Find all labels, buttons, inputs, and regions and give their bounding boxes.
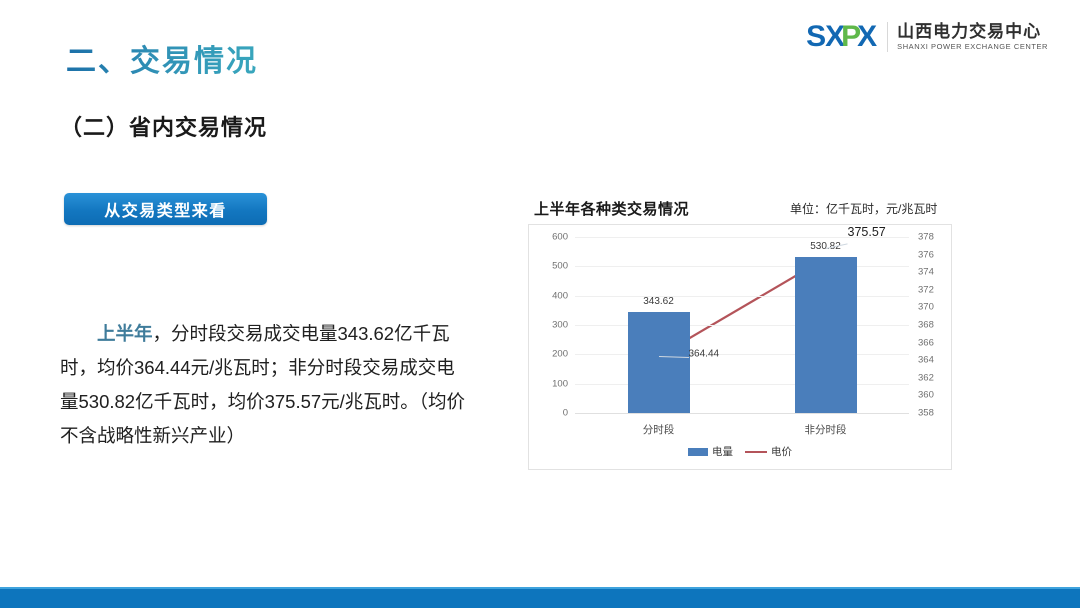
chart-gridline	[575, 354, 909, 355]
chart-gridline	[575, 413, 909, 414]
badge-transaction-type: 从交易类型来看	[64, 193, 267, 225]
y-axis-tick-right: 360	[918, 390, 934, 401]
page-title: 二、交易情况	[66, 36, 258, 80]
legend-label-energy: 电量	[712, 444, 733, 459]
logo-letter-s: S	[806, 22, 825, 52]
logo-mark-sxpx: SXPX	[806, 22, 876, 52]
y-axis-tick-left: 500	[552, 261, 568, 272]
logo-wordmark: 山西电力交易中心 SHANXI POWER EXCHANGE CENTER	[887, 22, 1048, 51]
footer-bar	[0, 587, 1080, 608]
legend-label-price: 电价	[771, 444, 792, 459]
brand-logo: SXPX 山西电力交易中心 SHANXI POWER EXCHANGE CENT…	[806, 22, 1048, 52]
y-axis-tick-right: 366	[918, 337, 934, 348]
legend-item-price: 电价	[745, 444, 792, 459]
y-axis-tick-right: 364	[918, 355, 934, 366]
y-axis-tick-right: 362	[918, 372, 934, 383]
y-axis-tick-right: 376	[918, 249, 934, 260]
line-value-label: 364.44	[689, 349, 720, 360]
y-axis-tick-left: 100	[552, 378, 568, 389]
y-axis-tick-right: 368	[918, 320, 934, 331]
chart-gridline	[575, 296, 909, 297]
y-axis-tick-left: 200	[552, 349, 568, 360]
x-axis-tick: 非分时段	[805, 422, 847, 437]
chart-gridline	[575, 266, 909, 267]
y-axis-tick-left: 600	[552, 232, 568, 243]
logo-letter-p: P	[841, 22, 860, 52]
bar-value-label: 343.62	[643, 296, 674, 307]
x-axis-tick: 分时段	[643, 422, 675, 437]
body-paragraph: 上半年，分时段交易成交电量343.62亿千瓦时，均价364.44元/兆瓦时；非分…	[60, 317, 472, 454]
chart-combo-energy-price: 6005004003002001000378376374372370368366…	[528, 224, 952, 470]
chart-plot-area: 6005004003002001000378376374372370368366…	[575, 237, 909, 413]
y-axis-tick-right: 358	[918, 408, 934, 419]
chart-bar	[628, 312, 690, 413]
sub-heading: （二）省内交易情况	[60, 110, 267, 142]
y-axis-tick-left: 400	[552, 290, 568, 301]
logo-name-cn: 山西电力交易中心	[897, 22, 1048, 42]
slide-canvas: 二、交易情况 SXPX 山西电力交易中心 SHANXI POWER EXCHAN…	[0, 0, 1080, 608]
y-axis-tick-left: 0	[563, 408, 568, 419]
y-axis-tick-right: 370	[918, 302, 934, 313]
y-axis-tick-right: 378	[918, 232, 934, 243]
paragraph-highlight: 上半年	[97, 323, 153, 344]
chart-title: 上半年各种类交易情况	[534, 198, 689, 219]
y-axis-tick-right: 372	[918, 284, 934, 295]
chart-gridline	[575, 384, 909, 385]
logo-name-en: SHANXI POWER EXCHANGE CENTER	[897, 42, 1048, 52]
chart-unit-note: 单位：亿千瓦时，元/兆瓦时	[790, 200, 937, 217]
chart-legend: 电量 电价	[529, 444, 951, 459]
legend-swatch-bar-icon	[688, 448, 708, 456]
y-axis-tick-left: 300	[552, 320, 568, 331]
line-value-label: 375.57	[848, 225, 886, 239]
chart-bar	[795, 257, 857, 413]
y-axis-tick-right: 374	[918, 267, 934, 278]
legend-swatch-line-icon	[745, 451, 767, 453]
chart-gridline	[575, 325, 909, 326]
legend-item-energy: 电量	[688, 444, 733, 459]
